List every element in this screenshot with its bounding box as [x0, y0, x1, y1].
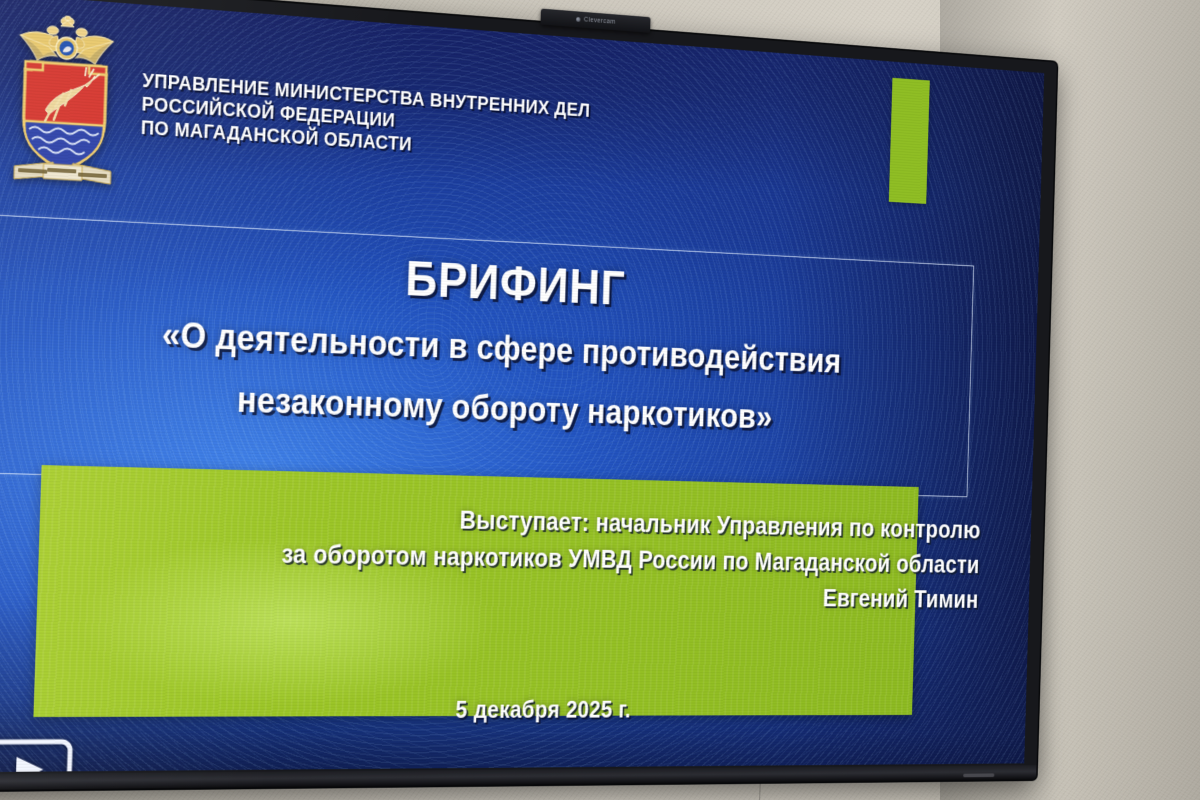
- camera-dot-icon: [576, 17, 580, 22]
- room-scene: Clevercam: [0, 0, 1200, 800]
- screen-scanlines: [0, 0, 1044, 772]
- tv-bezel-badge: [963, 773, 994, 777]
- webcam-label: Clevercam: [584, 17, 616, 26]
- wall-mounted-tv: Clevercam: [0, 0, 1057, 790]
- tv-screen: УПРАВЛЕНИЕ МИНИСТЕРСТВА ВНУТРЕННИХ ДЕЛ Р…: [0, 0, 1044, 772]
